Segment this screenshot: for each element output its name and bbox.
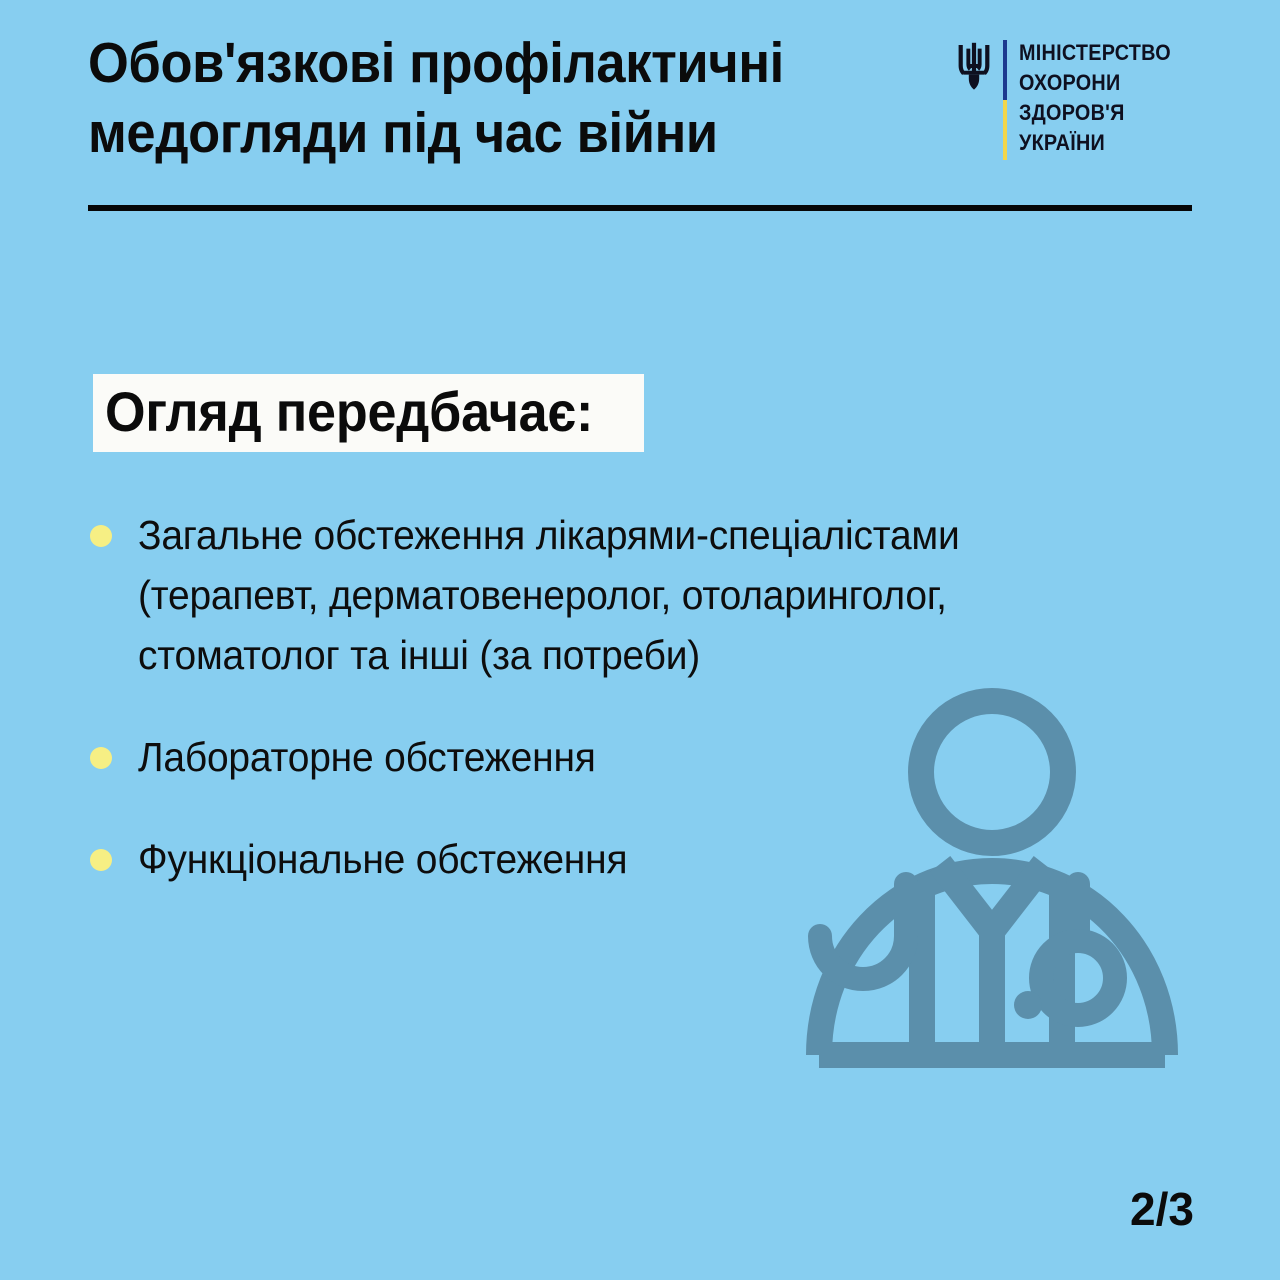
logo-flag-bar [1003, 40, 1007, 160]
page-indicator: 2/3 [1130, 1186, 1194, 1232]
section-heading-label: Огляд передбачає: [105, 378, 593, 446]
logo-line-3: ЗДОРОВ'Я [1019, 98, 1171, 128]
logo-wordmark: МІНІСТЕРСТВО ОХОРОНИ ЗДОРОВ'Я УКРАЇНИ [1019, 38, 1192, 158]
page-title: Обов'язкові профілактичні медогляди під … [88, 28, 898, 168]
header-divider [88, 205, 1192, 211]
ministry-logo: МІНІСТЕРСТВО ОХОРОНИ ЗДОРОВ'Я УКРАЇНИ [957, 38, 1192, 160]
logo-line-1: МІНІСТЕРСТВО [1019, 38, 1171, 68]
section-heading: Огляд передбачає: [93, 374, 644, 452]
list-item: Загальне обстеження лікарями-спеціаліста… [90, 505, 1100, 685]
ukraine-trident-icon [957, 42, 991, 90]
logo-line-4: УКРАЇНИ [1019, 128, 1171, 158]
logo-line-2: ОХОРОНИ [1019, 68, 1171, 98]
slide-header: Обов'язкові профілактичні медогляди під … [88, 28, 1192, 208]
bullet-dot-icon [90, 525, 112, 547]
bullet-dot-icon [90, 849, 112, 871]
infographic-slide: Обов'язкові профілактичні медогляди під … [0, 0, 1280, 1280]
list-item-label: Загальне обстеження лікарями-спеціаліста… [138, 505, 1052, 685]
bullet-dot-icon [90, 747, 112, 769]
doctor-with-stethoscope-icon [806, 688, 1178, 1068]
